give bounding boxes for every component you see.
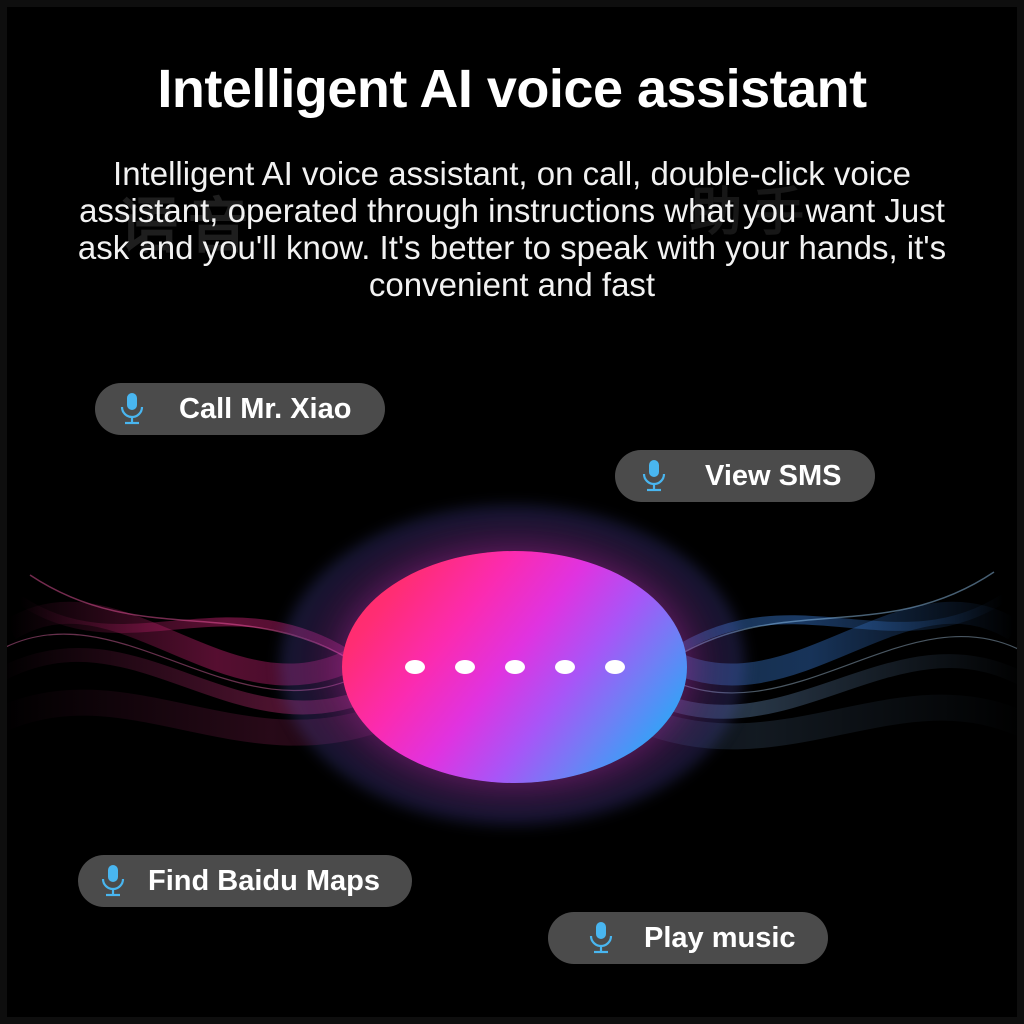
voice-command-music[interactable]: Play music [548, 912, 828, 964]
voice-command-label: Find Baidu Maps [148, 865, 380, 898]
orb-dot [405, 660, 425, 674]
voice-command-label: View SMS [705, 460, 841, 493]
page-title: Intelligent AI voice assistant [0, 58, 1024, 120]
orb-dot [455, 660, 475, 674]
voice-assistant-poster: 语音 助手 Intelligent AI voice assistant Int… [0, 0, 1024, 1024]
microphone-icon [119, 392, 145, 426]
voice-command-call[interactable]: Call Mr. Xiao [95, 383, 385, 435]
voice-command-sms[interactable]: View SMS [615, 450, 875, 502]
microphone-icon [100, 864, 126, 898]
orb-dot [505, 660, 525, 674]
voice-assistant-orb[interactable] [280, 505, 745, 825]
voice-command-label: Call Mr. Xiao [179, 393, 351, 426]
microphone-icon [641, 459, 667, 493]
page-description: Intelligent AI voice assistant, on call,… [50, 155, 974, 303]
voice-command-maps[interactable]: Find Baidu Maps [78, 855, 412, 907]
orb-listening-dots [342, 551, 687, 783]
orb-dot [605, 660, 625, 674]
microphone-icon [588, 921, 614, 955]
voice-command-label: Play music [644, 922, 796, 955]
orb-dot [555, 660, 575, 674]
